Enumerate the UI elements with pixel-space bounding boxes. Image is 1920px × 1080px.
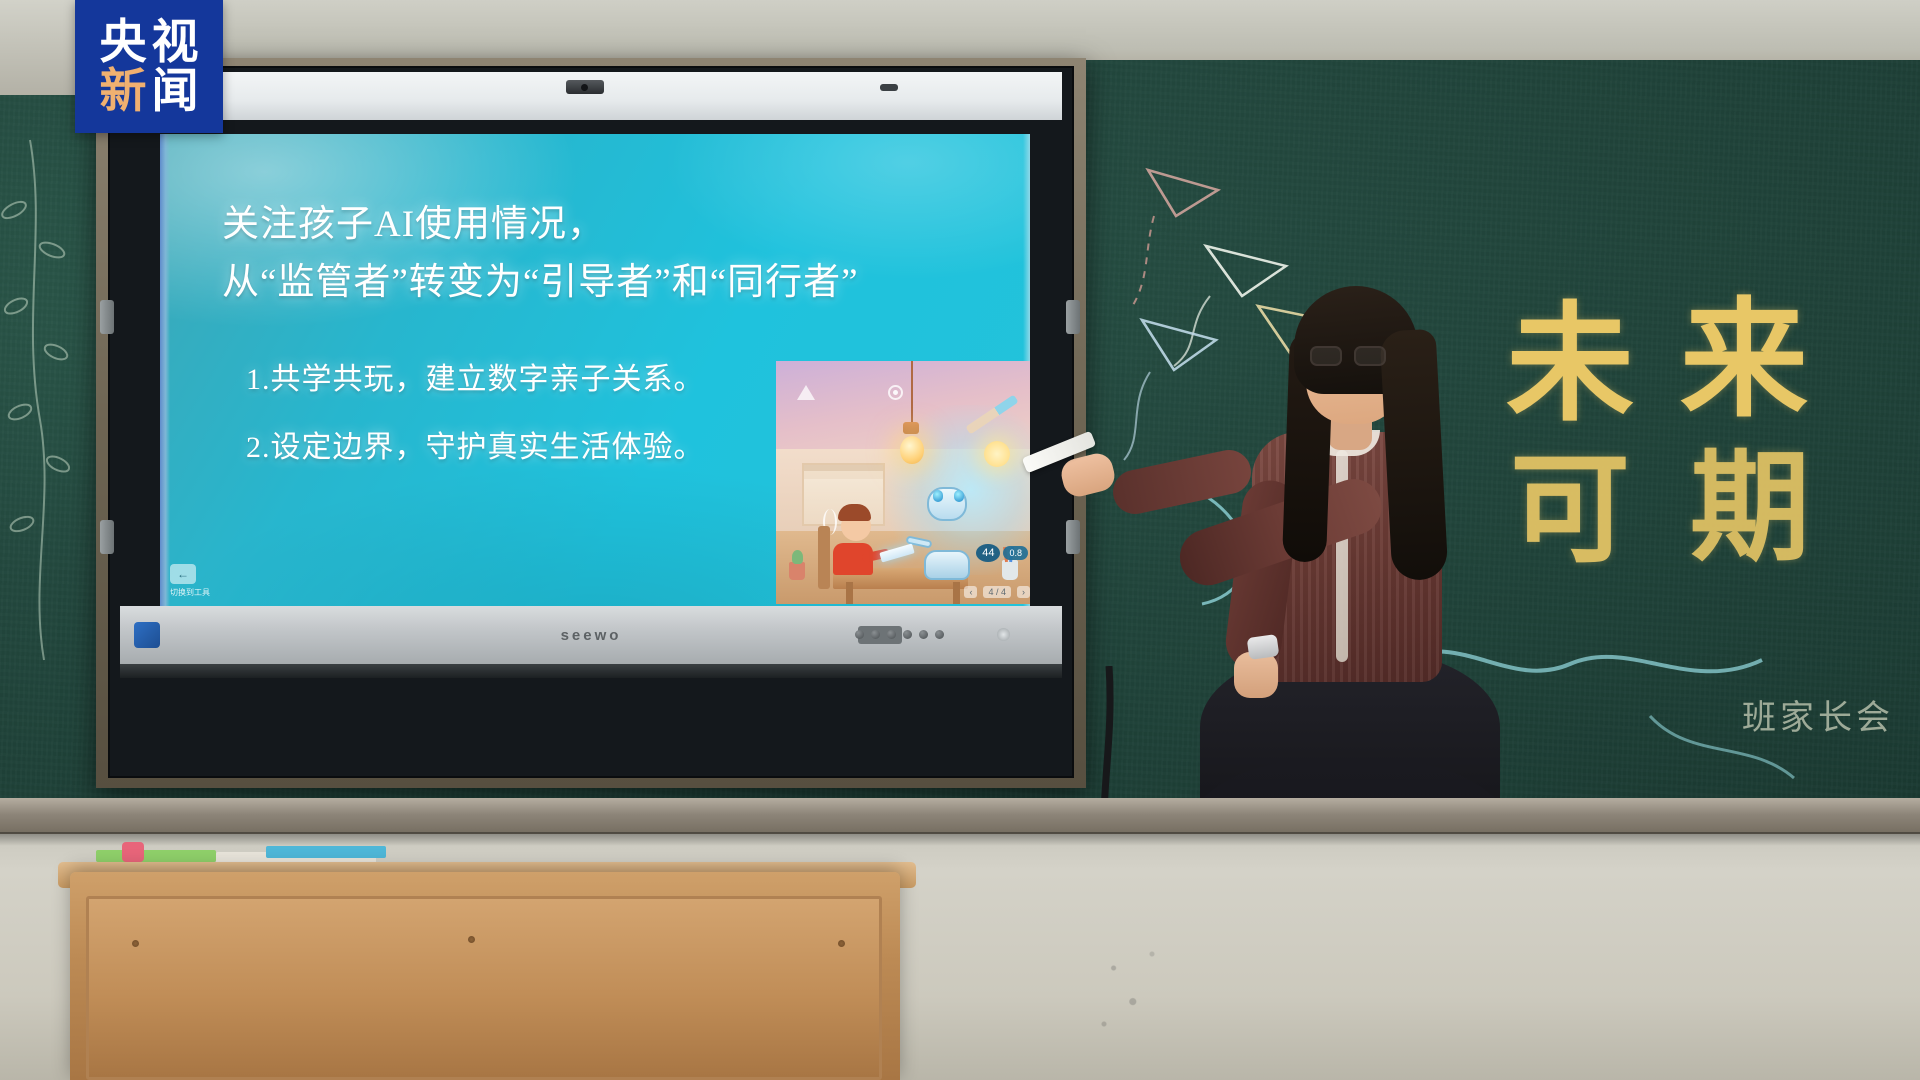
logo-line-1: 央 视 bbox=[100, 19, 199, 66]
port-icon bbox=[871, 630, 880, 639]
podium-screw bbox=[132, 940, 139, 947]
logo-char-shi: 视 bbox=[152, 19, 199, 66]
port-icon bbox=[935, 630, 944, 639]
broadcast-screenshot: 未 来 可 期 班家长会 关注孩子AI使用情况， 从“监管者”转变为“引导者”和… bbox=[0, 0, 1920, 1080]
desk-item-green-folder bbox=[96, 850, 216, 862]
illustration-robot-eye-left bbox=[933, 490, 943, 502]
presentation-screen[interactable]: 关注孩子AI使用情况， 从“监管者”转变为“引导者”和“同行者” 1.共学共玩，… bbox=[160, 134, 1030, 606]
back-arrow-icon[interactable]: ← bbox=[170, 564, 196, 584]
logo-char-wen: 闻 bbox=[152, 68, 199, 115]
chalk-right-text: 班家长会 bbox=[1742, 690, 1894, 739]
wall-strip-left-of-logo bbox=[0, 0, 75, 95]
pager-prev-button[interactable]: ‹ bbox=[964, 586, 977, 598]
chalk-second-line-char-1: 可 bbox=[1510, 412, 1630, 586]
chalk-ledge bbox=[0, 798, 1920, 834]
whiteboard-brand-label: seewo bbox=[561, 627, 622, 644]
slide-bullet-list: 1.共学共玩，建立数字亲子关系。 2.设定边界，守护真实生活体验。 bbox=[246, 346, 806, 481]
frame-hinge-right-lower bbox=[1066, 520, 1080, 554]
slide-illustration[interactable]: AI 44 0.8 ‹ 4 / 4 › bbox=[776, 361, 1030, 604]
logo-char-yang: 央 bbox=[100, 19, 147, 66]
desk-item-marker bbox=[122, 842, 144, 862]
chalk-second-line-char-2: 期 bbox=[1690, 410, 1810, 584]
podium-screw bbox=[838, 940, 845, 947]
power-button[interactable] bbox=[997, 628, 1010, 641]
logo-char-xin: 新 bbox=[100, 68, 147, 115]
lightbulb-icon bbox=[900, 436, 924, 464]
frame-hinge-lower bbox=[100, 520, 114, 554]
target-icon bbox=[888, 385, 903, 400]
vendor-badge-icon bbox=[134, 622, 160, 648]
whiteboard-underside bbox=[120, 664, 1062, 678]
illustration-robot-body bbox=[924, 550, 970, 580]
podium-front-panel bbox=[86, 896, 882, 1080]
screen-left-edge bbox=[160, 134, 170, 606]
port-icon bbox=[887, 630, 896, 639]
illustration-desk-leg-left bbox=[846, 582, 853, 604]
port-icon bbox=[919, 630, 928, 639]
slide-title-line-1: 关注孩子AI使用情况， bbox=[222, 196, 962, 254]
glasses-lens-left bbox=[1310, 346, 1342, 366]
port-icon bbox=[903, 630, 912, 639]
pencil-cup-icon bbox=[1002, 560, 1018, 580]
illustration-robot-eye-right bbox=[954, 490, 964, 502]
sun-icon bbox=[984, 441, 1010, 467]
podium-screw bbox=[468, 936, 475, 943]
eyeglasses-icon bbox=[1310, 346, 1396, 368]
slide-title-line-2: 从“监管者”转变为“引导者”和“同行者” bbox=[222, 254, 962, 312]
logo-line-2: 新 闻 bbox=[100, 68, 199, 115]
camera-lens-icon bbox=[581, 84, 588, 91]
ir-sensor-icon bbox=[880, 84, 898, 91]
port-icon bbox=[855, 630, 864, 639]
slide-bullet-2: 2.设定边界，守护真实生活体验。 bbox=[246, 414, 806, 482]
lightbulb-cap bbox=[903, 422, 919, 434]
wristwatch-icon bbox=[1247, 634, 1280, 660]
illustration-desk-leg-right bbox=[953, 582, 960, 604]
potted-plant-icon bbox=[789, 562, 805, 580]
desk-item-blue-folder bbox=[266, 846, 386, 858]
back-label: 切换到工具 bbox=[170, 587, 210, 598]
badge-label: 0.8 bbox=[1003, 546, 1028, 560]
cctv-news-logo: 央 视 新 闻 bbox=[75, 0, 223, 133]
whiteboard-bottom-bezel: seewo bbox=[120, 606, 1062, 664]
slide-bullet-1: 1.共学共玩，建立数字亲子关系。 bbox=[246, 346, 806, 414]
frame-hinge-upper bbox=[100, 300, 114, 334]
frame-hinge-right-upper bbox=[1066, 300, 1080, 334]
port-cluster bbox=[855, 630, 944, 639]
glasses-lens-right bbox=[1354, 346, 1386, 366]
lightbulb-cord bbox=[911, 361, 913, 424]
illustration-chair bbox=[818, 526, 830, 589]
slide-tool-switcher[interactable]: ← 切换到工具 bbox=[170, 564, 210, 598]
pager-page-indicator: 4 / 4 bbox=[983, 586, 1011, 598]
badge-value: 44 bbox=[976, 544, 1000, 562]
illustration-badge: 44 0.8 bbox=[976, 544, 1028, 562]
illustration-pager[interactable]: ‹ 4 / 4 › bbox=[964, 586, 1030, 598]
pager-next-button[interactable]: › bbox=[1017, 586, 1030, 598]
slide-title: 关注孩子AI使用情况， 从“监管者”转变为“引导者”和“同行者” bbox=[222, 196, 962, 313]
triangle-icon bbox=[797, 385, 815, 400]
illustration-child-hair bbox=[838, 504, 871, 521]
